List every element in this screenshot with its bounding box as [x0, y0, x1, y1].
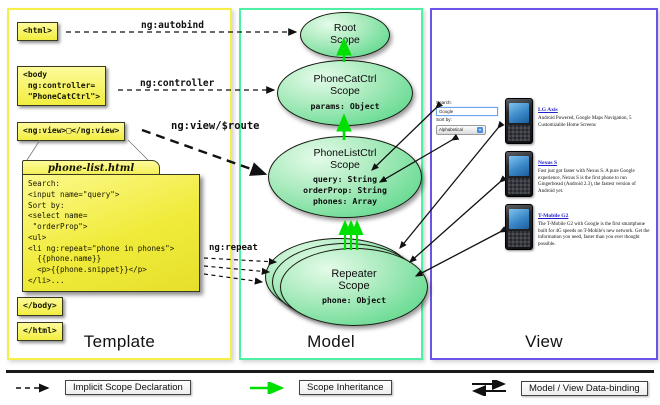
list-item[interactable]: Nexus S Fast just got faster with Nexus …: [505, 151, 651, 197]
scope-phonecatctrl-props: params: Object: [310, 101, 379, 112]
solid-arrow-icon: [248, 382, 292, 394]
view-panel-caption: View: [432, 332, 656, 352]
phone-list-template-note: phone-list.html Search: <input name="que…: [22, 160, 200, 292]
scope-phonecatctrl: PhoneCatCtrlScope params: Object: [277, 60, 413, 126]
edge-label-autobind: ng:autobind: [141, 20, 204, 31]
edge-label-route: ng:view/$route: [171, 120, 260, 132]
scope-phonelistctrl-props: query: String orderProp: String phones: …: [303, 174, 387, 206]
legend-item-data-binding: Model / View Data-binding: [470, 380, 648, 396]
legend-label-scope-inheritance: Scope Inheritance: [299, 380, 392, 395]
legend-item-implicit-scope: Implicit Scope Declaration: [14, 380, 191, 395]
sort-select-value: Alphabetical: [439, 126, 463, 134]
edge-label-controller: ng:controller: [140, 78, 214, 89]
view-search-form: Search: Google Sort by: Alphabetical ▾: [436, 100, 498, 135]
dashed-arrow-icon: [14, 382, 58, 394]
legend-item-scope-inheritance: Scope Inheritance: [248, 380, 392, 395]
phone-list: LG Axis Android Powered, Google Maps Nav…: [505, 98, 651, 257]
scope-repeater: RepeaterScope phone: Object: [280, 248, 428, 326]
phone-snippet: Fast just got faster with Nexus S. A pur…: [538, 169, 651, 195]
sort-label: Sort by:: [436, 117, 498, 124]
phone-name-link[interactable]: Nexus S: [538, 160, 557, 166]
code-chip-html-open: <html>: [17, 22, 58, 41]
phone-name-link[interactable]: T-Mobile G2: [538, 213, 568, 219]
phone-snippet: The T-Mobile G2 with Google is the first…: [538, 222, 651, 248]
sort-select[interactable]: Alphabetical ▾: [436, 125, 486, 135]
diagram-canvas: Template Model View <html> <body ng:cont…: [0, 0, 660, 405]
code-chip-body-close: </body>: [17, 297, 63, 316]
note-code: Search: <input name="query"> Sort by: <s…: [22, 174, 200, 292]
scope-repeater-title: RepeaterScope: [331, 268, 376, 293]
phone-snippet: Android Powered, Google Maps Navigation,…: [538, 116, 651, 129]
legend-label-data-binding: Model / View Data-binding: [521, 381, 648, 396]
phone-thumbnail-icon: [505, 204, 533, 250]
search-label: Search:: [436, 100, 498, 107]
scope-repeater-props: phone: Object: [322, 295, 386, 306]
legend-divider: [6, 370, 654, 373]
phone-name-link[interactable]: LG Axis: [538, 107, 558, 113]
phone-thumbnail-icon: [505, 151, 533, 197]
phone-thumbnail-icon: [505, 98, 533, 144]
scope-root: RootScope: [300, 12, 390, 58]
code-chip-body-open: <body ng:controller= "PhoneCatCtrl">: [17, 66, 106, 106]
scope-phonelistctrl-title: PhoneListCtrlScope: [313, 148, 376, 172]
search-input[interactable]: Google: [436, 107, 498, 116]
list-item[interactable]: T-Mobile G2 The T-Mobile G2 with Google …: [505, 204, 651, 250]
legend-label-implicit-scope: Implicit Scope Declaration: [65, 380, 191, 395]
chevron-down-icon: ▾: [477, 127, 483, 133]
edge-label-repeat: ng:repeat: [209, 243, 258, 253]
code-chip-html-close: </html>: [17, 322, 63, 341]
scope-root-title: RootScope: [330, 23, 360, 47]
double-arrow-icon: [470, 380, 514, 396]
scope-phonecatctrl-title: PhoneCatCtrlScope: [313, 74, 376, 98]
code-chip-ng-view: <ng:view>□</ng:view>: [17, 122, 125, 141]
list-item[interactable]: LG Axis Android Powered, Google Maps Nav…: [505, 98, 651, 144]
note-title: phone-list.html: [22, 160, 160, 175]
model-panel-caption: Model: [241, 332, 421, 352]
legend: Implicit Scope Declaration Scope Inherit…: [0, 376, 660, 405]
scope-phonelistctrl: PhoneListCtrlScope query: String orderPr…: [268, 136, 422, 218]
